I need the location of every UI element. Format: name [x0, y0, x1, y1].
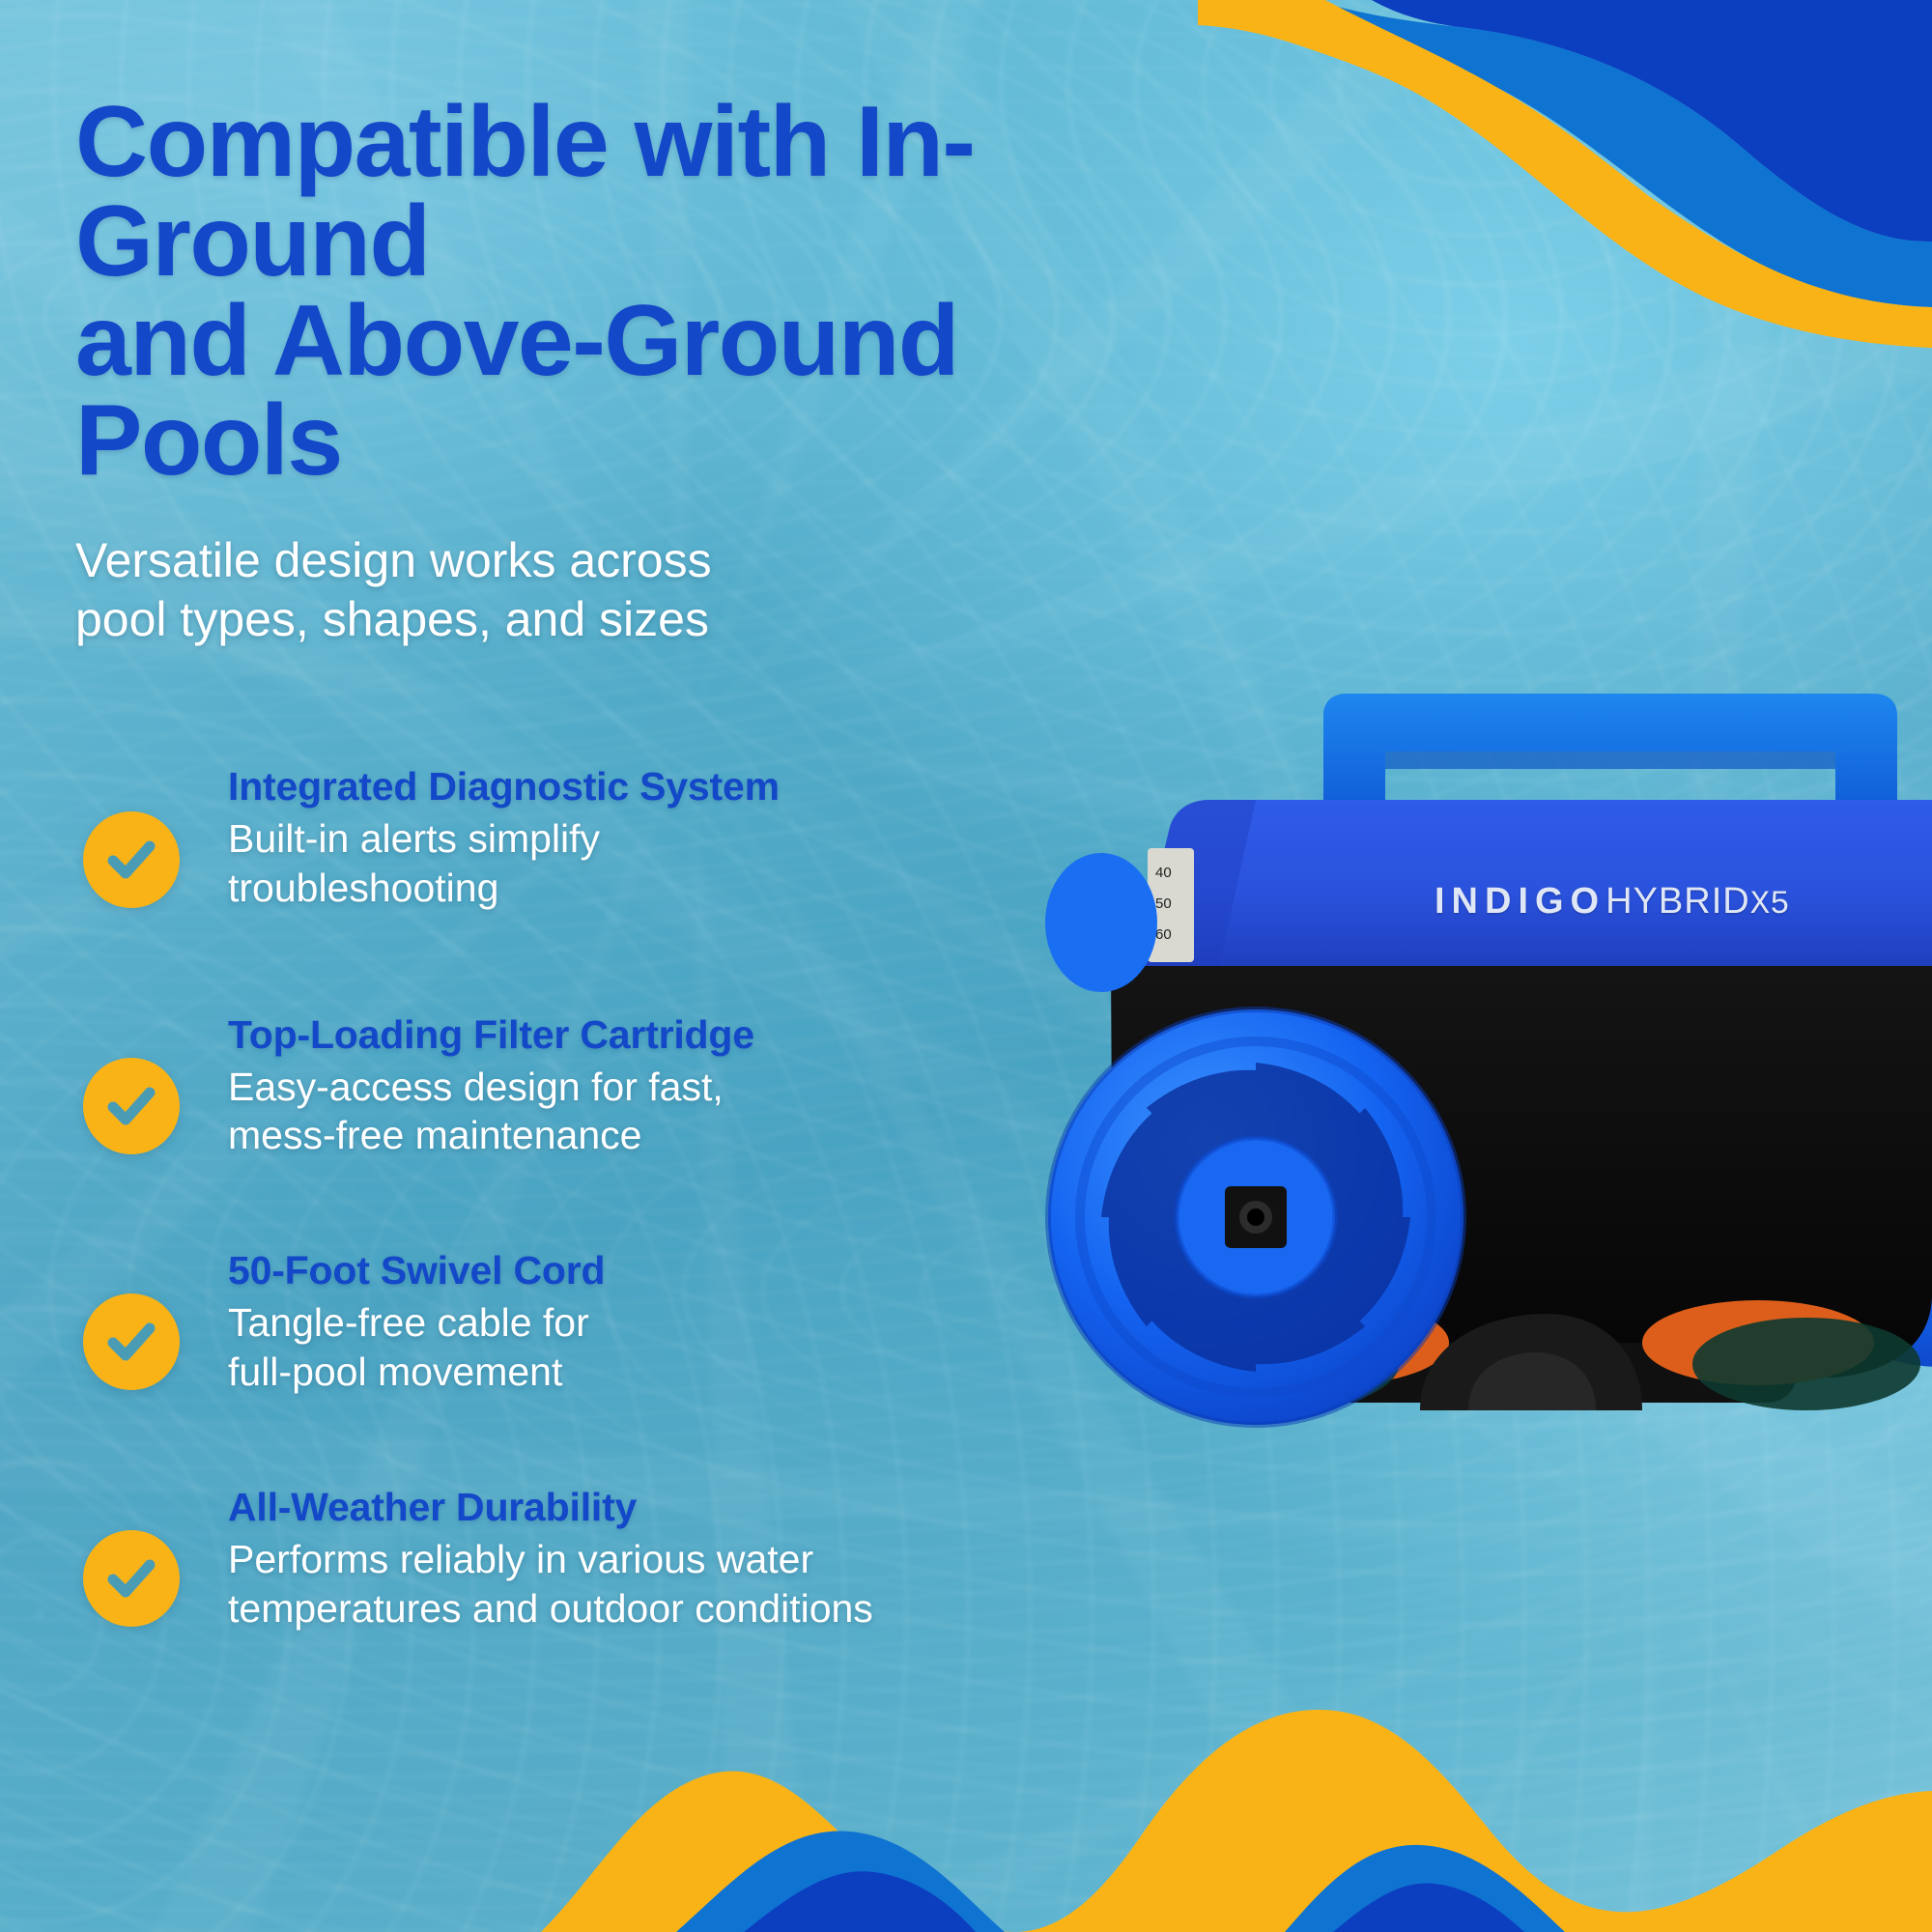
- feature-title: Top-Loading Filter Cartridge: [228, 1013, 754, 1057]
- feature-item-top-loading-filter-cartridge: Top-Loading Filter Cartridge Easy-access…: [75, 1009, 1119, 1161]
- feature-text: Top-Loading Filter Cartridge Easy-access…: [187, 1009, 754, 1161]
- gauge-label-50: 50: [1155, 895, 1172, 912]
- brand-x5: X5: [1750, 887, 1790, 923]
- check-circle-icon: [83, 1293, 180, 1390]
- feature-title: Integrated Diagnostic System: [228, 765, 780, 809]
- feature-text: Integrated Diagnostic System Built-in al…: [187, 761, 780, 913]
- feature-list: Integrated Diagnostic System Built-in al…: [75, 761, 1119, 1634]
- subheadline-line-2: pool types, shapes, and sizes: [75, 592, 709, 646]
- feature-desc-line-1: Performs reliably in various water: [228, 1537, 813, 1581]
- feature-item-all-weather-durability: All-Weather Durability Performs reliably…: [75, 1482, 1119, 1634]
- carry-handle-part: [1323, 694, 1897, 800]
- feature-desc-line-1: Easy-access design for fast,: [228, 1065, 724, 1109]
- feature-desc-line-1: Built-in alerts simplify: [228, 816, 600, 861]
- brand-hybrid: HYBRID: [1605, 881, 1750, 922]
- poster-canvas: 40 50 60: [0, 0, 1932, 1932]
- feature-desc-line-2: mess-free maintenance: [228, 1113, 641, 1157]
- check-circle-icon: [83, 811, 180, 908]
- headline-line-2: and Above-Ground Pools: [75, 285, 958, 497]
- feature-icon-wrap: [75, 811, 187, 908]
- page-title: Compatible with In-Ground and Above-Grou…: [75, 93, 1244, 491]
- gauge-label-40: 40: [1155, 865, 1172, 881]
- handle-inner-shadow-part: [1385, 752, 1835, 769]
- feature-title: 50-Foot Swivel Cord: [228, 1249, 605, 1293]
- feature-icon-wrap: [75, 1530, 187, 1627]
- subheadline-line-1: Versatile design works across: [75, 533, 712, 587]
- feature-desc-line-2: troubleshooting: [228, 866, 498, 910]
- feature-item-50-foot-swivel-cord: 50-Foot Swivel Cord Tangle-free cable fo…: [75, 1245, 1119, 1397]
- feature-text: 50-Foot Swivel Cord Tangle-free cable fo…: [187, 1245, 605, 1397]
- feature-icon-wrap: [75, 1058, 187, 1154]
- feature-item-integrated-diagnostic-system: Integrated Diagnostic System Built-in al…: [75, 761, 1119, 913]
- gauge-label-60: 60: [1155, 926, 1172, 943]
- feature-description: Easy-access design for fast, mess-free m…: [228, 1063, 754, 1161]
- subheadline: Versatile design works across pool types…: [75, 531, 925, 649]
- feature-title: All-Weather Durability: [228, 1486, 873, 1529]
- product-brand-label: INDIGOHYBRIDX5: [1435, 881, 1790, 923]
- poster-content: Compatible with In-Ground and Above-Grou…: [75, 93, 1119, 1634]
- feature-icon-wrap: [75, 1293, 187, 1390]
- feature-desc-line-2: full-pool movement: [228, 1350, 562, 1394]
- check-circle-icon: [83, 1058, 180, 1154]
- feature-text: All-Weather Durability Performs reliably…: [187, 1482, 873, 1634]
- feature-desc-line-2: temperatures and outdoor conditions: [228, 1586, 873, 1631]
- green-drive-belt-right-part: [1692, 1318, 1920, 1410]
- feature-description: Performs reliably in various water tempe…: [228, 1535, 873, 1634]
- feature-description: Built-in alerts simplify troubleshooting: [228, 814, 780, 913]
- headline-line-1: Compatible with In-Ground: [75, 86, 975, 298]
- feature-desc-line-1: Tangle-free cable for: [228, 1300, 589, 1345]
- feature-description: Tangle-free cable for full-pool movement: [228, 1298, 605, 1397]
- check-circle-icon: [83, 1530, 180, 1627]
- brand-indigo: INDIGO: [1435, 881, 1605, 922]
